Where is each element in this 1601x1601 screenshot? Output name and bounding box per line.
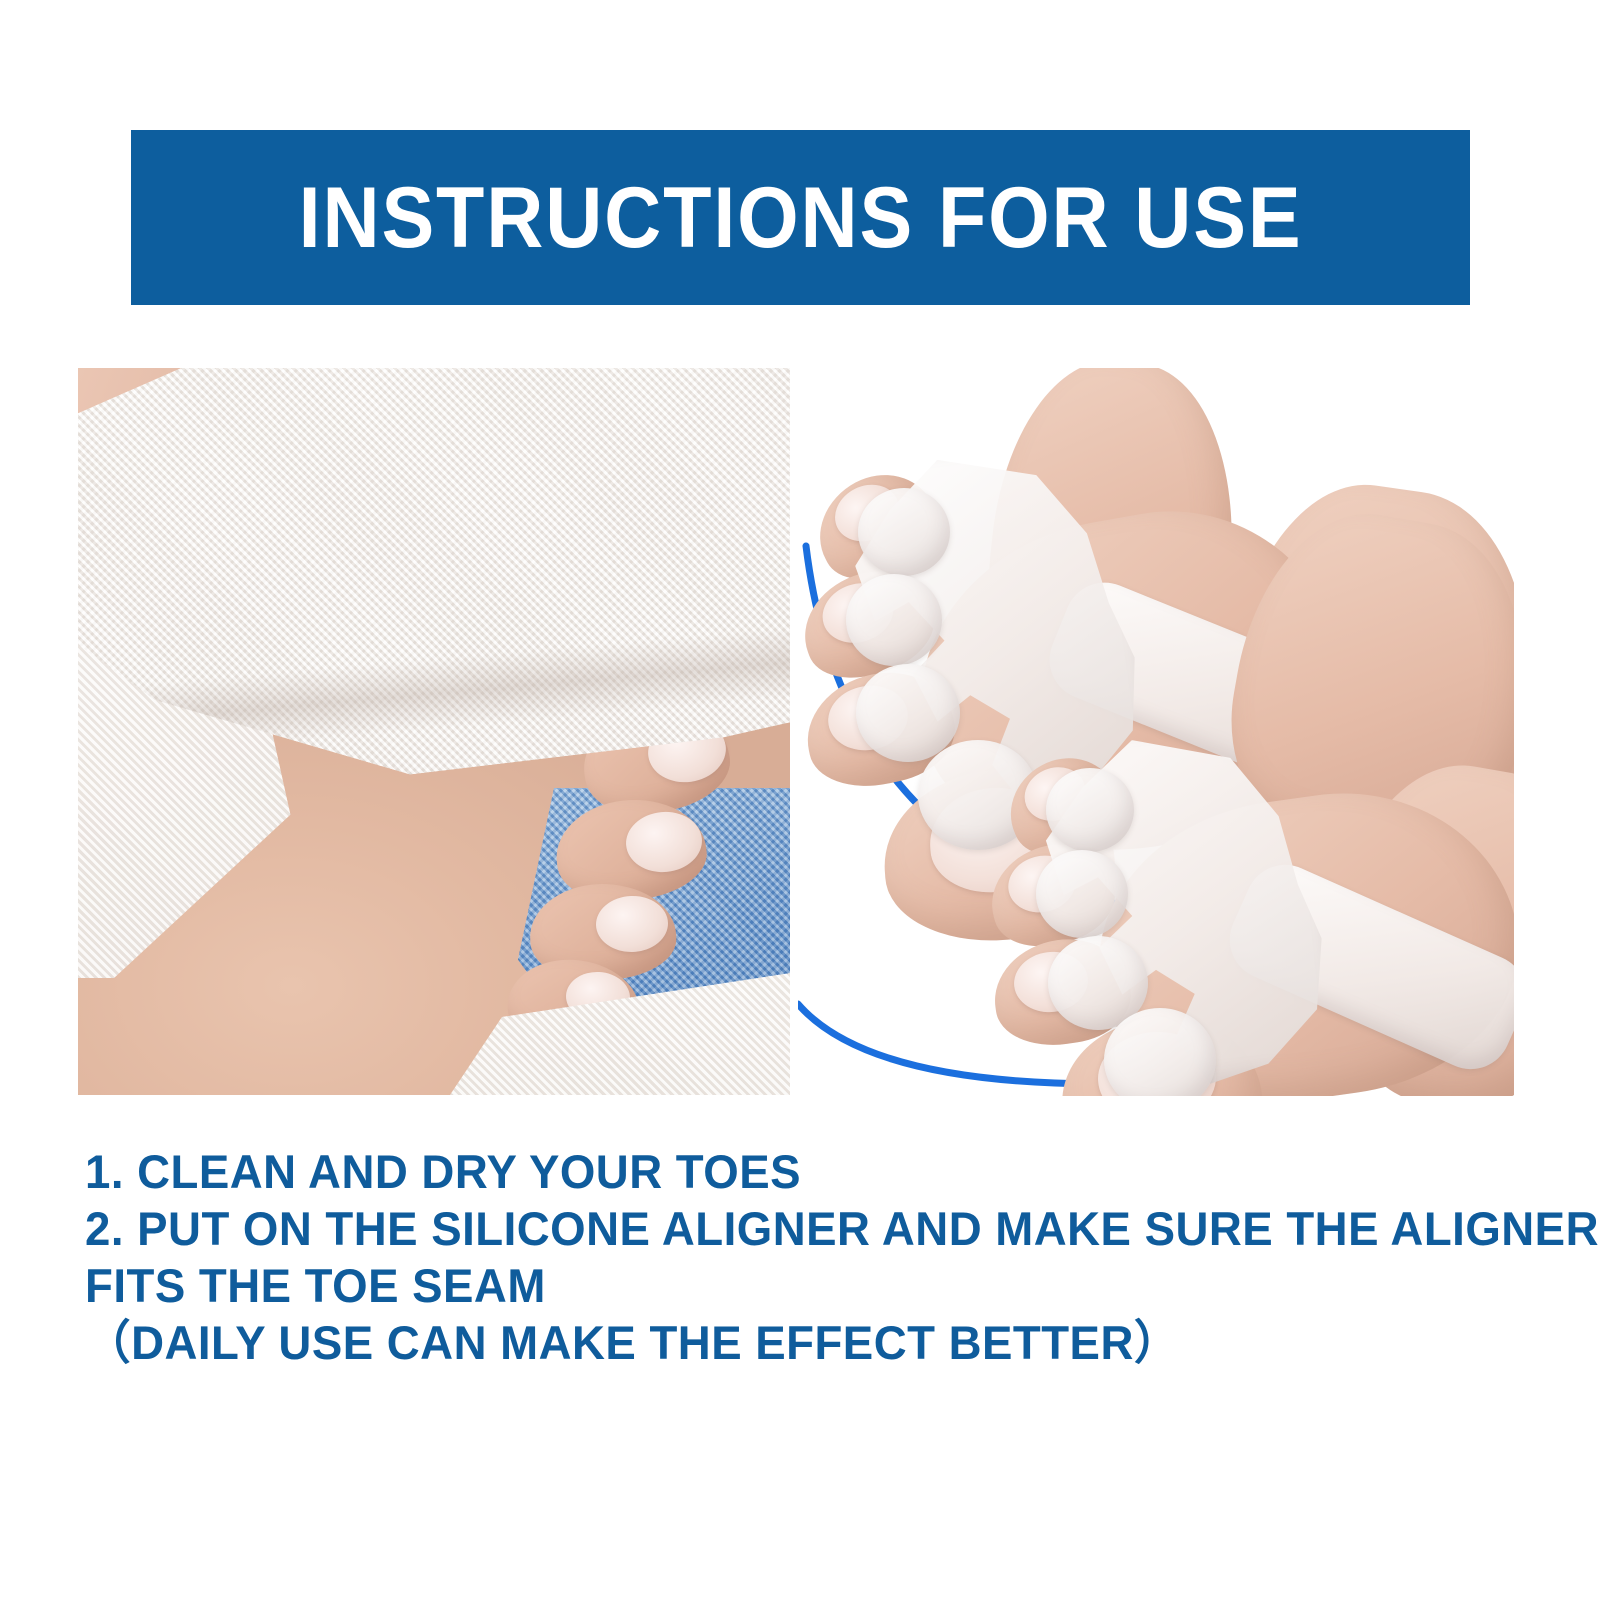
instruction-line-2: 2. PUT ON THE SILICONE ALIGNER AND MAKE … — [85, 1200, 1482, 1257]
foot-b-silicone-lobe-2 — [1036, 850, 1128, 938]
header-banner: INSTRUCTIONS FOR USE — [131, 130, 1470, 305]
infographic-page: INSTRUCTIONS FOR USE — [0, 0, 1601, 1601]
instruction-line-1: 1. CLEAN AND DRY YOUR TOES — [85, 1143, 1482, 1200]
foot-b-silicone-lobe-1 — [1046, 768, 1134, 852]
instruction-list: 1. CLEAN AND DRY YOUR TOES 2. PUT ON THE… — [85, 1143, 1482, 1371]
instruction-note: （DAILY USE CAN MAKE THE EFFECT BETTER） — [85, 1314, 1482, 1371]
page-title: INSTRUCTIONS FOR USE — [299, 175, 1303, 261]
instruction-line-2-continued: FITS THE TOE SEAM — [85, 1257, 1482, 1314]
right-photo-silicone-aligner — [798, 368, 1514, 1096]
left-photo-bare-foot — [78, 368, 790, 1095]
foot-a-silicone-lobe-1 — [858, 488, 950, 576]
foot-a-silicone-lobe-2 — [846, 574, 942, 666]
foot-a-silicone-lobe-3 — [856, 664, 960, 762]
